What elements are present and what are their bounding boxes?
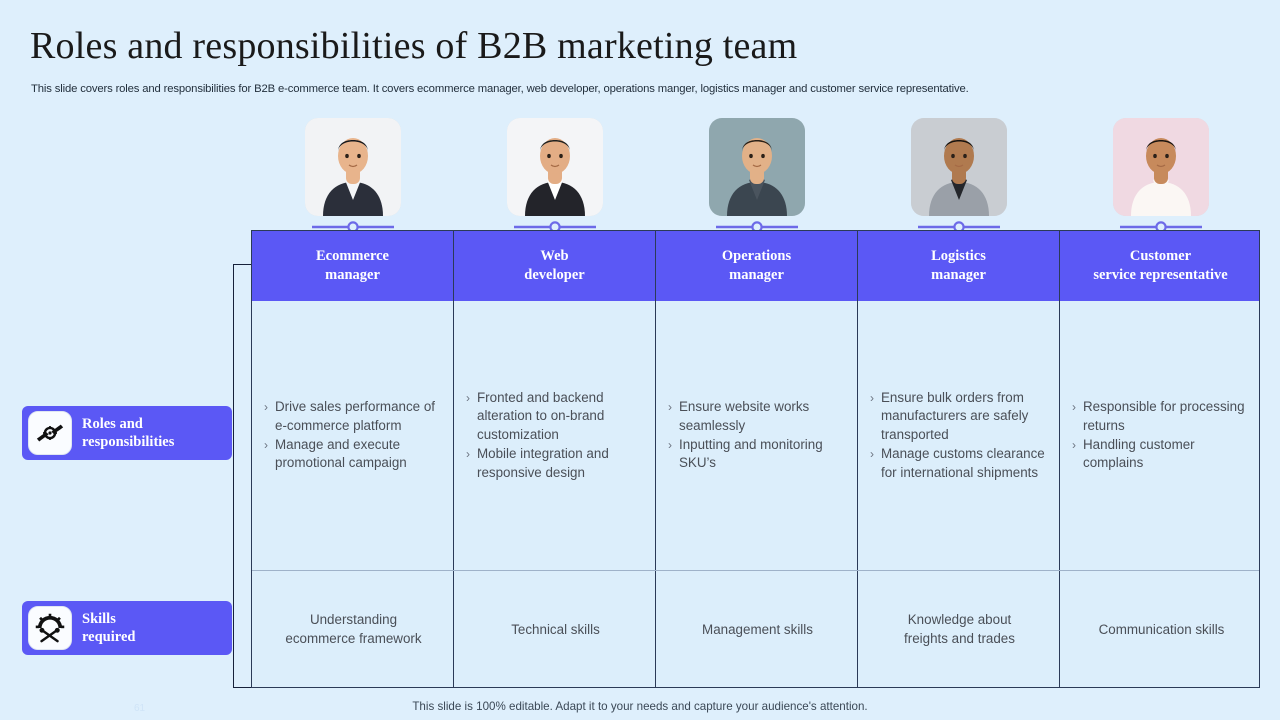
skill-text: Technical skills [466,620,645,639]
list-item: ›Drive sales performance of e-commerce p… [264,398,443,436]
row-label-skills-text: Skills required [82,610,135,646]
chevron-right-icon: › [264,436,268,455]
page-subtitle: This slide covers roles and responsibili… [31,83,969,95]
slide-root: Roles and responsibilities of B2B market… [0,0,1280,720]
page-number: 61 [134,703,145,714]
person-photo-cell [1113,118,1209,216]
chevron-right-icon: › [1072,398,1076,417]
list-item: ›Ensure bulk orders from manufacturers a… [870,389,1049,445]
table-cell-roles: ›Drive sales performance of e-commerce p… [252,301,454,570]
bullet-list: ›Drive sales performance of e-commerce p… [264,398,443,473]
customer-service-representative-photo [1113,118,1209,216]
photo-row [252,118,1260,236]
chevron-right-icon: › [870,445,874,464]
list-item: ›Fronted and backend alteration to on-br… [466,389,645,445]
table-column-header: Logistics manager [858,231,1060,301]
list-item: ›Ensure website works seamlessly [668,398,847,436]
table-cell-roles: ›Ensure website works seamlessly›Inputti… [656,301,858,570]
table-cell-skills: Knowledge about freights and trades [858,571,1060,687]
logistics-manager-photo [911,118,1007,216]
person-photo-cell [305,118,401,216]
list-item-text: Ensure bulk orders from manufacturers ar… [881,389,1049,445]
list-item-text: Mobile integration and responsive design [477,445,645,483]
table-cell-skills: Technical skills [454,571,656,687]
table-cell-skills: Management skills [656,571,858,687]
list-item-text: Manage and execute promotional campaign [275,436,443,474]
chevron-right-icon: › [668,398,672,417]
person-photo-cell [911,118,1007,216]
bullet-list: ›Ensure website works seamlessly›Inputti… [668,398,847,473]
list-item: ›Mobile integration and responsive desig… [466,445,645,483]
list-item: ›Inputting and monitoring SKU’s [668,436,847,474]
list-item-text: Manage customs clearance for internation… [881,445,1049,483]
chevron-right-icon: › [264,398,268,417]
skill-text: Communication skills [1072,620,1251,639]
list-item-text: Responsible for processing returns [1083,398,1251,436]
table-column-header: Web developer [454,231,656,301]
table-cell-roles: ›Responsible for processing returns›Hand… [1060,301,1261,570]
list-item: ›Handling customer complains [1072,436,1251,474]
web-developer-photo [507,118,603,216]
list-item: ›Manage and execute promotional campaign [264,436,443,474]
table-column-header: Ecommerce manager [252,231,454,301]
table-row-skills: Understanding ecommerce frameworkTechnic… [252,570,1259,687]
skill-text: Knowledge about freights and trades [870,610,1049,648]
footer-note: This slide is 100% editable. Adapt it to… [0,700,1280,713]
table-cell-roles: ›Ensure bulk orders from manufacturers a… [858,301,1060,570]
ecommerce-manager-photo [305,118,401,216]
operations-manager-photo [709,118,805,216]
chevron-right-icon: › [1072,436,1076,455]
page-title: Roles and responsibilities of B2B market… [30,24,797,68]
list-item: ›Responsible for processing returns [1072,398,1251,436]
table-cell-skills: Communication skills [1060,571,1261,687]
gear-tools-icon [28,606,72,650]
row-label-roles-text: Roles and responsibilities [82,415,174,451]
list-item: ›Manage customs clearance for internatio… [870,445,1049,483]
roles-table: Ecommerce managerWeb developerOperations… [251,230,1260,688]
table-column-header: Operations manager [656,231,858,301]
bullet-list: ›Responsible for processing returns›Hand… [1072,398,1251,473]
chevron-right-icon: › [870,389,874,408]
table-cell-roles: ›Fronted and backend alteration to on-br… [454,301,656,570]
person-photo-cell [507,118,603,216]
list-item-text: Ensure website works seamlessly [679,398,847,436]
skill-text: Management skills [668,620,847,639]
bullet-list: ›Ensure bulk orders from manufacturers a… [870,389,1049,483]
skill-text: Understanding ecommerce framework [264,610,443,648]
chevron-right-icon: › [466,445,470,464]
table-cell-skills: Understanding ecommerce framework [252,571,454,687]
list-item-text: Inputting and monitoring SKU’s [679,436,847,474]
row-label-skills[interactable]: Skills required [22,601,232,655]
chevron-right-icon: › [668,436,672,455]
row-label-roles[interactable]: Roles and responsibilities [22,406,232,460]
table-column-header: Customer service representative [1060,231,1261,301]
list-item-text: Fronted and backend alteration to on-bra… [477,389,645,445]
chevron-right-icon: › [466,389,470,408]
list-item-text: Drive sales performance of e-commerce pl… [275,398,443,436]
bullet-list: ›Fronted and backend alteration to on-br… [466,389,645,483]
table-header-row: Ecommerce managerWeb developerOperations… [252,231,1259,301]
table-row-roles: ›Drive sales performance of e-commerce p… [252,301,1259,570]
hands-gear-icon [28,411,72,455]
person-photo-cell [709,118,805,216]
list-item-text: Handling customer complains [1083,436,1251,474]
